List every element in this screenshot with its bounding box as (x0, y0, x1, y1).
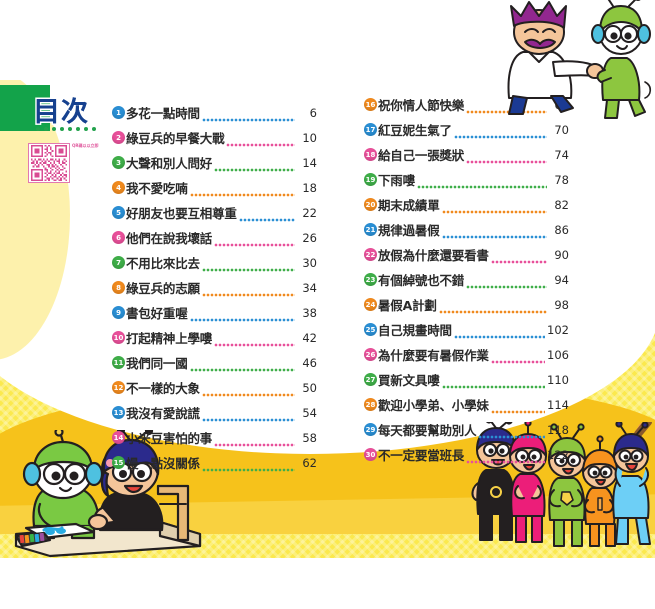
toc-page-number: 26 (297, 231, 317, 245)
toc-page-number: 86 (549, 223, 569, 237)
toc-entry[interactable]: 22放假為什麼還要看書90 (364, 242, 569, 267)
toc-leader-dots (439, 302, 547, 314)
toc-page-number: 22 (297, 206, 317, 220)
toc-leader-dots (491, 352, 545, 364)
toc-leader-dots (190, 185, 295, 197)
toc-entry[interactable]: 3大聲和別人問好14 (112, 150, 317, 175)
toc-entry[interactable]: 11我們同一國46 (112, 350, 317, 375)
toc-leader-dots (214, 235, 295, 247)
toc-number-badge: 24 (364, 298, 377, 311)
illustration-top-right (495, 0, 655, 120)
toc-entry-title: 買新文具嘍 (378, 370, 440, 389)
toc-entry-title: 我們同一國 (126, 353, 188, 372)
toc-entry[interactable]: 5好朋友也要互相尊重22 (112, 200, 317, 225)
toc-column-right: 16祝你情人節快樂6617紅豆妮生氣了7018給自己一張獎狀7419下雨嘍782… (364, 92, 569, 467)
toc-entry-title: 他們在說我壞話 (126, 228, 212, 247)
toc-page-number: 46 (297, 356, 317, 370)
toc-entry-title: 綠豆兵的早餐大戰 (126, 128, 224, 147)
toc-page-number: 106 (547, 348, 569, 362)
toc-number-badge: 25 (364, 323, 377, 336)
qr-code-group[interactable]: QR碼以以立即 (28, 143, 100, 185)
toc-entry-title: 我沒有愛說謊 (126, 403, 200, 422)
toc-number-badge: 11 (112, 356, 125, 369)
toc-number-badge: 30 (364, 448, 377, 461)
toc-page-number: 110 (547, 373, 569, 387)
toc-leader-dots (214, 335, 295, 347)
toc-entry-title: 我不愛吃喃 (126, 178, 188, 197)
toc-number-badge: 10 (112, 331, 125, 344)
toc-leader-dots (478, 427, 545, 439)
toc-page-number: 102 (547, 323, 569, 337)
toc-entry-title: 慢一點沒關係 (126, 453, 200, 472)
book-page-spread: 目次 目次 (0, 80, 655, 558)
toc-page-number: 34 (297, 281, 317, 295)
toc-number-badge: 1 (112, 106, 125, 119)
toc-leader-dots (454, 327, 545, 339)
qr-code-label: QR碼以以立即 (72, 144, 100, 148)
toc-page-number: 30 (297, 256, 317, 270)
toc-entry[interactable]: 8綠豆兵的志願34 (112, 275, 317, 300)
toc-page-number: 118 (547, 423, 569, 437)
toc-entry[interactable]: 7不用比來比去30 (112, 250, 317, 275)
toc-entry[interactable]: 2綠豆兵的早餐大戰10 (112, 125, 317, 150)
toc-number-badge: 19 (364, 173, 377, 186)
toc-entry-title: 放假為什麼還要看書 (378, 245, 489, 264)
toc-entry-title: 大聲和別人問好 (126, 153, 212, 172)
toc-entry-title: 書包好重喔 (126, 303, 188, 322)
toc-entry-title: 紅豆妮生氣了 (378, 120, 452, 139)
toc-entry[interactable]: 29每天都要幫助別人118 (364, 417, 569, 442)
toc-entry-title: 有個綽號也不錯 (378, 270, 464, 289)
toc-entry[interactable]: 12不一樣的大象50 (112, 375, 317, 400)
toc-leader-dots (491, 252, 547, 264)
toc-number-badge: 4 (112, 181, 125, 194)
toc-entry-title: 期末成績單 (378, 195, 440, 214)
toc-entry-title: 綠豆兵的志願 (126, 278, 200, 297)
toc-leader-dots (190, 360, 295, 372)
toc-entry-title: 不一定要當班長 (378, 445, 464, 464)
toc-entry-title: 歡迎小學弟、小學妹 (378, 395, 489, 414)
toc-entry[interactable]: 1多花一點時間6 (112, 100, 317, 125)
toc-leader-dots (202, 460, 295, 472)
toc-leader-dots (442, 202, 547, 214)
toc-entry[interactable]: 24暑假A計劃98 (364, 292, 569, 317)
toc-entry[interactable]: 27買新文具嘍110 (364, 367, 569, 392)
toc-leader-dots (442, 377, 546, 389)
toc-entry-title: 每天都要幫助別人 (378, 420, 476, 439)
toc-entry[interactable]: 17紅豆妮生氣了70 (364, 117, 569, 142)
toc-number-badge: 15 (112, 456, 125, 469)
toc-leader-dots (454, 127, 547, 139)
toc-page-number: 18 (297, 181, 317, 195)
toc-entry[interactable]: 18給自己一張獎狀74 (364, 142, 569, 167)
toc-entry-title: 小米豆害怕的事 (126, 428, 212, 447)
toc-entry[interactable]: 20期末成績單82 (364, 192, 569, 217)
qr-code-image (30, 145, 68, 181)
toc-number-badge: 13 (112, 406, 125, 419)
toc-page-number: 74 (549, 148, 569, 162)
toc-number-badge: 26 (364, 348, 377, 361)
toc-number-badge: 21 (364, 223, 377, 236)
toc-number-badge: 6 (112, 231, 125, 244)
toc-page-number: 62 (297, 456, 317, 470)
toc-entry[interactable]: 25自己規畫時間102 (364, 317, 569, 342)
title-dot-row (36, 127, 96, 131)
toc-entry-title: 給自己一張獎狀 (378, 145, 464, 164)
toc-entry-title: 好朋友也要互相尊重 (126, 203, 237, 222)
toc-leader-dots (239, 210, 295, 222)
toc-page-number: 90 (549, 248, 569, 262)
toc-entry-title: 暑假A計劃 (378, 295, 437, 314)
toc-entry-title: 規律過暑假 (378, 220, 440, 239)
qr-code-icon[interactable] (28, 143, 70, 183)
toc-page-number: 78 (549, 173, 569, 187)
toc-number-badge: 12 (112, 381, 125, 394)
toc-page-number: 114 (547, 398, 569, 412)
toc-page-number: 98 (549, 298, 569, 312)
toc-entry-title: 不一樣的大象 (126, 378, 200, 397)
toc-page-number: 54 (297, 406, 317, 420)
toc-leader-dots (466, 277, 547, 289)
toc-entry[interactable]: 19下雨嘍78 (364, 167, 569, 192)
toc-entry-title: 打起精神上學嘍 (126, 328, 212, 347)
toc-number-badge: 2 (112, 131, 125, 144)
toc-page-number: 70 (549, 123, 569, 137)
toc-column-left: 1多花一點時間62綠豆兵的早餐大戰103大聲和別人問好144我不愛吃喃185好朋… (112, 100, 317, 475)
toc-number-badge: 29 (364, 423, 377, 436)
toc-entry-title: 多花一點時間 (126, 103, 200, 122)
toc-number-badge: 20 (364, 198, 377, 211)
toc-number-badge: 27 (364, 373, 377, 386)
toc-entry-title: 不用比來比去 (126, 253, 200, 272)
toc-page-number: 38 (297, 306, 317, 320)
toc-entry[interactable]: 9書包好重喔38 (112, 300, 317, 325)
toc-leader-dots (190, 310, 295, 322)
toc-page-number: 50 (297, 381, 317, 395)
toc-page-number: 94 (549, 273, 569, 287)
toc-number-badge: 3 (112, 156, 125, 169)
toc-entry[interactable]: 15慢一點沒關係62 (112, 450, 317, 475)
page-title: 目次 (33, 90, 89, 129)
toc-page-number: 58 (297, 431, 317, 445)
toc-entry[interactable]: 10打起精神上學嘍42 (112, 325, 317, 350)
toc-number-badge: 5 (112, 206, 125, 219)
toc-entry[interactable]: 26為什麼要有暑假作業106 (364, 342, 569, 367)
toc-number-badge: 16 (364, 98, 377, 111)
toc-entry-title: 自己規畫時間 (378, 320, 452, 339)
toc-entry[interactable]: 30不一定要當班長122 (364, 442, 569, 467)
toc-entry[interactable]: 28歡迎小學弟、小學妹114 (364, 392, 569, 417)
toc-entry[interactable]: 4我不愛吃喃18 (112, 175, 317, 200)
toc-leader-dots (442, 227, 547, 239)
toc-leader-dots (202, 385, 295, 397)
toc-number-badge: 9 (112, 306, 125, 319)
toc-page-number: 10 (297, 131, 317, 145)
toc-leader-dots (466, 152, 547, 164)
toc-number-badge: 17 (364, 123, 377, 136)
toc-leader-dots (226, 135, 295, 147)
toc-number-badge: 22 (364, 248, 377, 261)
toc-number-badge: 8 (112, 281, 125, 294)
toc-entry[interactable]: 6他們在說我壞話26 (112, 225, 317, 250)
toc-number-badge: 7 (112, 256, 125, 269)
toc-entry-title: 為什麼要有暑假作業 (378, 345, 489, 364)
toc-leader-dots (202, 110, 295, 122)
toc-leader-dots (202, 285, 295, 297)
toc-page-number: 6 (297, 106, 317, 120)
page-title-group: 目次 目次 (0, 85, 130, 145)
toc-page-number: 82 (549, 198, 569, 212)
toc-leader-dots (202, 410, 295, 422)
toc-entry-title: 祝你情人節快樂 (378, 95, 464, 114)
toc-leader-dots (417, 177, 547, 189)
toc-number-badge: 23 (364, 273, 377, 286)
toc-page-number: 14 (297, 156, 317, 170)
toc-leader-dots (202, 260, 295, 272)
toc-leader-dots (214, 435, 295, 447)
toc-page-number: 122 (547, 448, 569, 462)
toc-entry[interactable]: 14小米豆害怕的事58 (112, 425, 317, 450)
toc-entry-title: 下雨嘍 (378, 170, 415, 189)
toc-leader-dots (214, 160, 295, 172)
toc-leader-dots (466, 452, 545, 464)
toc-number-badge: 28 (364, 398, 377, 411)
toc-entry[interactable]: 21規律過暑假86 (364, 217, 569, 242)
toc-leader-dots (491, 402, 545, 414)
toc-page-number: 42 (297, 331, 317, 345)
toc-entry[interactable]: 23有個綽號也不錯94 (364, 267, 569, 292)
toc-number-badge: 18 (364, 148, 377, 161)
toc-entry[interactable]: 13我沒有愛說謊54 (112, 400, 317, 425)
toc-number-badge: 14 (112, 431, 125, 444)
